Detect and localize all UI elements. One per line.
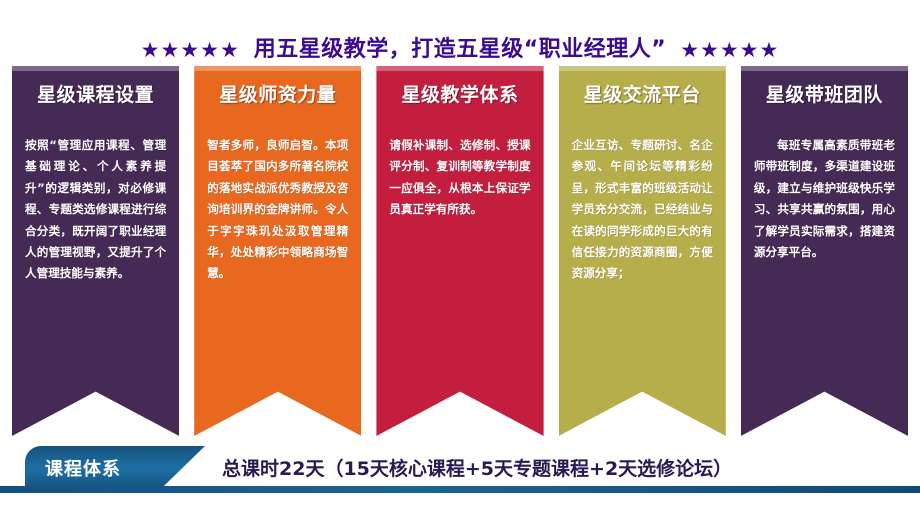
stars-left-icon: ★★★★★ bbox=[141, 40, 240, 61]
slide-header: ★★★★★ 用五星级教学，打造五星级“职业经理人” ★★★★★ bbox=[0, 34, 920, 66]
banner-title: 星级课程设置 bbox=[25, 84, 166, 107]
stars-right-icon: ★★★★★ bbox=[680, 40, 779, 61]
footer-tab-label: 课程体系 bbox=[45, 455, 121, 481]
banner-column-list: 星级课程设置 按照“管理应用课程、管理基础理论、个人素养提升”的逻辑类别，对必修… bbox=[12, 66, 908, 436]
banner-title: 星级教学体系 bbox=[389, 84, 530, 107]
banner-column-course-setup[interactable]: 星级课程设置 按照“管理应用课程、管理基础理论、个人素养提升”的逻辑类别，对必修… bbox=[12, 66, 179, 436]
banner-column-teaching-system[interactable]: 星级教学体系 请假补课制、选修制、授课评分制、复训制等教学制度一应俱全，从根本上… bbox=[376, 66, 543, 436]
banner-content: 星级带班团队 每班专属高素质带班老师带班制度，多渠道建设班级，建立与维护班级快乐… bbox=[741, 66, 908, 436]
page-title: 用五星级教学，打造五星级“职业经理人” bbox=[254, 39, 666, 61]
banner-title: 星级带班团队 bbox=[754, 84, 895, 107]
banner-title: 星级师资力量 bbox=[207, 84, 348, 107]
footer-summary-text: 总课时22天（15天核心课程+5天专题课程+2天选修论坛） bbox=[222, 454, 732, 481]
banner-body-text: 智者多师，良师启智。本项目荟萃了国内多所著名院校的落地实战派优秀教授及咨询培训界… bbox=[207, 135, 348, 285]
banner-content: 星级课程设置 按照“管理应用课程、管理基础理论、个人素养提升”的逻辑类别，对必修… bbox=[12, 66, 179, 436]
banner-column-class-team[interactable]: 星级带班团队 每班专属高素质带班老师带班制度，多渠道建设班级，建立与维护班级快乐… bbox=[741, 66, 908, 436]
banner-title: 星级交流平台 bbox=[572, 84, 713, 107]
banner-body-text: 按照“管理应用课程、管理基础理论、个人素养提升”的逻辑类别，对必修课程、专题类选… bbox=[25, 135, 166, 285]
banner-content: 星级师资力量 智者多师，良师启智。本项目荟萃了国内多所著名院校的落地实战派优秀教… bbox=[194, 66, 361, 436]
banner-body-text: 请假补课制、选修制、授课评分制、复训制等教学制度一应俱全，从根本上保证学员真正学… bbox=[389, 135, 530, 221]
banner-content: 星级交流平台 企业互访、专题研讨、名企参观、午间论坛等精彩纷呈，形式丰富的班级活… bbox=[559, 66, 726, 436]
banner-column-faculty-strength[interactable]: 星级师资力量 智者多师，良师启智。本项目荟萃了国内多所著名院校的落地实战派优秀教… bbox=[194, 66, 361, 436]
banner-body-text: 企业互访、专题研讨、名企参观、午间论坛等精彩纷呈，形式丰富的班级活动让学员充分交… bbox=[572, 135, 713, 285]
slide-canvas: ★★★★★ 用五星级教学，打造五星级“职业经理人” ★★★★★ 星级课程设置 按… bbox=[0, 0, 920, 512]
banner-body-text: 每班专属高素质带班老师带班制度，多渠道建设班级，建立与维护班级快乐学习、共享共赢… bbox=[754, 135, 895, 264]
banner-content: 星级教学体系 请假补课制、选修制、授课评分制、复训制等教学制度一应俱全，从根本上… bbox=[376, 66, 543, 436]
banner-column-exchange-platform[interactable]: 星级交流平台 企业互访、专题研讨、名企参观、午间论坛等精彩纷呈，形式丰富的班级活… bbox=[559, 66, 726, 436]
slide-footer: 课程体系 总课时22天（15天核心课程+5天专题课程+2天选修论坛） bbox=[0, 443, 920, 499]
